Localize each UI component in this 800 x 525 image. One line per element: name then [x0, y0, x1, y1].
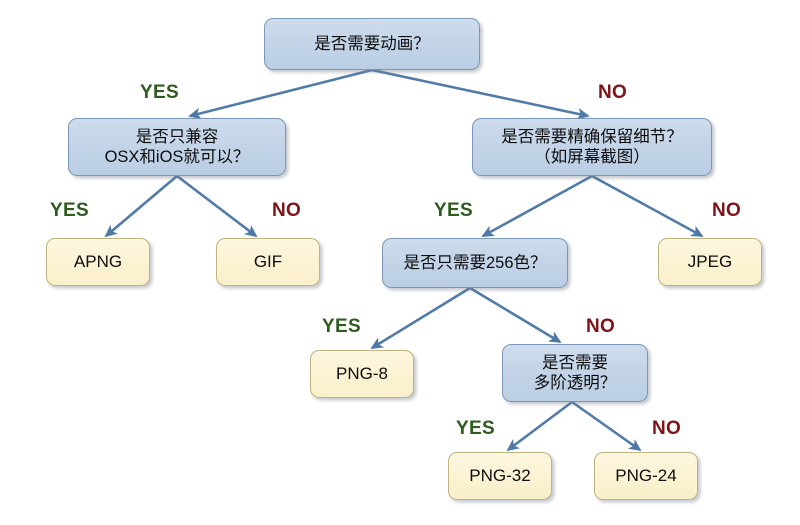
edge-q-alpha-transparency-to-r-png24	[572, 402, 640, 450]
edge-label-no-1: NO	[598, 82, 627, 104]
node-label-line1: 是否只需要256色？	[403, 254, 546, 272]
node-r-jpeg[interactable]: JPEG	[658, 238, 762, 286]
node-label-r-apng: APNG	[47, 252, 149, 273]
node-r-png24[interactable]: PNG-24	[594, 452, 698, 500]
node-q-animation[interactable]: 是否需要动画？	[264, 18, 480, 70]
edge-label-yes-6: YES	[322, 316, 361, 338]
node-label-line2: （如屏幕截图）	[478, 147, 706, 167]
node-label-line1: 是否需要精确保留细节？	[501, 128, 683, 146]
node-label-r-jpeg: JPEG	[659, 252, 761, 273]
node-q-osx-ios-only[interactable]: 是否只兼容OSX和iOS就可以？	[68, 118, 286, 176]
node-label-line1: PNG-8	[336, 364, 388, 383]
edge-q-osx-ios-only-to-r-gif	[177, 176, 256, 236]
node-r-png32[interactable]: PNG-32	[448, 452, 552, 500]
node-q-exact-detail[interactable]: 是否需要精确保留细节？（如屏幕截图）	[472, 118, 712, 176]
decision-tree-diagram: 是否需要动画？是否只兼容OSX和iOS就可以？是否需要精确保留细节？（如屏幕截图…	[0, 0, 800, 525]
edge-label-yes-8: YES	[456, 418, 495, 440]
node-label-line1: 是否需要	[542, 354, 608, 372]
node-label-line1: JPEG	[688, 252, 732, 271]
edge-q-exact-detail-to-r-jpeg	[592, 176, 702, 236]
edge-q-animation-to-q-exact-detail	[372, 70, 588, 116]
node-label-q-osx-ios-only: 是否只兼容OSX和iOS就可以？	[69, 127, 285, 167]
node-label-q-exact-detail: 是否需要精确保留细节？（如屏幕截图）	[473, 127, 711, 167]
edge-label-no-3: NO	[272, 200, 301, 222]
node-label-q-alpha-transparency: 是否需要多阶透明？	[503, 353, 647, 393]
node-r-apng[interactable]: APNG	[46, 238, 150, 286]
edge-q-alpha-transparency-to-r-png32	[508, 402, 572, 450]
edge-label-yes-2: YES	[50, 200, 89, 222]
node-r-gif[interactable]: GIF	[216, 238, 320, 286]
node-r-png8[interactable]: PNG-8	[310, 350, 414, 398]
edge-q-animation-to-q-osx-ios-only	[190, 70, 372, 116]
node-q-256-colors[interactable]: 是否只需要256色？	[382, 238, 568, 288]
node-label-line1: 是否需要动画？	[314, 35, 430, 53]
edge-q-exact-detail-to-q-256-colors	[483, 176, 592, 236]
edge-q-256-colors-to-q-alpha-transparency	[470, 288, 560, 342]
node-label-r-png8: PNG-8	[311, 364, 413, 385]
node-label-line1: APNG	[74, 252, 122, 271]
edge-q-osx-ios-only-to-r-apng	[106, 176, 177, 236]
edge-label-no-5: NO	[712, 200, 741, 222]
edge-label-no-9: NO	[652, 418, 681, 440]
node-label-line1: PNG-24	[615, 466, 676, 485]
node-label-line1: PNG-32	[469, 466, 530, 485]
edge-label-no-7: NO	[586, 316, 615, 338]
node-label-r-png24: PNG-24	[595, 466, 697, 487]
node-label-line1: GIF	[254, 252, 282, 271]
edge-q-256-colors-to-r-png8	[372, 288, 470, 348]
node-label-line2: 多阶透明？	[508, 373, 642, 393]
node-label-r-gif: GIF	[217, 252, 319, 273]
edge-label-yes-0: YES	[140, 82, 179, 104]
node-label-line2: OSX和iOS就可以？	[74, 147, 280, 167]
node-label-line1: 是否只兼容	[136, 128, 219, 146]
node-label-q-animation: 是否需要动画？	[265, 34, 479, 54]
node-label-q-256-colors: 是否只需要256色？	[383, 253, 567, 273]
edge-label-yes-4: YES	[434, 200, 473, 222]
node-q-alpha-transparency[interactable]: 是否需要多阶透明？	[502, 344, 648, 402]
node-label-r-png32: PNG-32	[449, 466, 551, 487]
